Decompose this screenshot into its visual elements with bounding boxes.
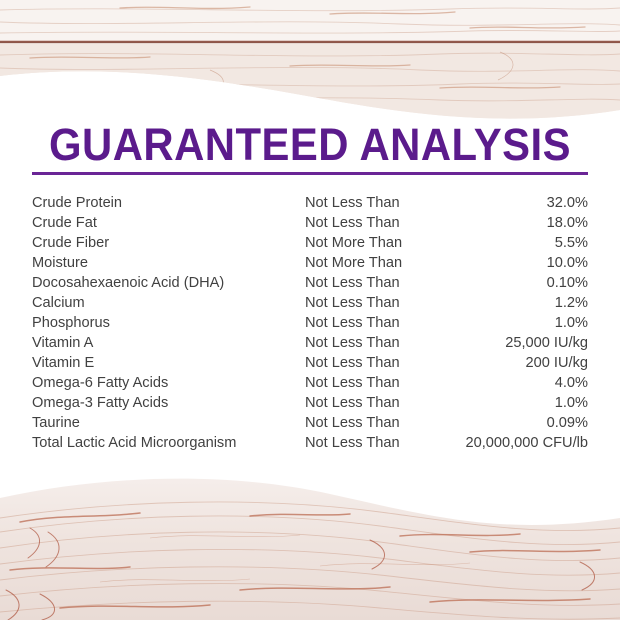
nutrient-qualifier: Not Less Than (305, 273, 435, 293)
nutrient-value: 0.10% (435, 273, 588, 293)
nutrient-qualifier: Not Less Than (305, 353, 435, 373)
nutrient-qualifier: Not More Than (305, 253, 435, 273)
nutrient-qualifier: Not More Than (305, 233, 435, 253)
nutrient-value: 4.0% (435, 373, 588, 393)
table-row: Moisture Not More Than 10.0% (32, 253, 588, 273)
table-row: Omega-6 Fatty Acids Not Less Than 4.0% (32, 373, 588, 393)
table-row: Calcium Not Less Than 1.2% (32, 293, 588, 313)
nutrient-value: 10.0% (435, 253, 588, 273)
table-row: Total Lactic Acid Microorganism Not Less… (32, 433, 588, 453)
nutrient-name: Total Lactic Acid Microorganism (32, 433, 305, 453)
table-row: Omega-3 Fatty Acids Not Less Than 1.0% (32, 393, 588, 413)
nutrient-name: Calcium (32, 293, 305, 313)
wood-texture-top-decoration (0, 0, 620, 125)
page-title: GUARANTEED ANALYSIS (22, 122, 599, 168)
wood-texture-bottom-decoration (0, 470, 620, 620)
nutrient-qualifier: Not Less Than (305, 293, 435, 313)
nutrient-qualifier: Not Less Than (305, 433, 435, 453)
nutrient-qualifier: Not Less Than (305, 313, 435, 333)
nutrient-value: 18.0% (435, 213, 588, 233)
title-underline-rule (32, 172, 588, 175)
table-row: Vitamin E Not Less Than 200 IU/kg (32, 353, 588, 373)
nutrient-value: 1.0% (435, 313, 588, 333)
nutrient-qualifier: Not Less Than (305, 213, 435, 233)
table-row: Taurine Not Less Than 0.09% (32, 413, 588, 433)
guaranteed-analysis-panel: GUARANTEED ANALYSIS Crude Protein Not Le… (0, 0, 620, 620)
nutrient-value: 20,000,000 CFU/lb (435, 433, 588, 453)
nutrient-value: 25,000 IU/kg (435, 333, 588, 353)
nutrient-name: Crude Fiber (32, 233, 305, 253)
nutrient-name: Crude Protein (32, 193, 305, 213)
nutrient-qualifier: Not Less Than (305, 413, 435, 433)
table-row: Vitamin A Not Less Than 25,000 IU/kg (32, 333, 588, 353)
nutrient-value: 0.09% (435, 413, 588, 433)
nutrient-qualifier: Not Less Than (305, 193, 435, 213)
table-row: Crude Fiber Not More Than 5.5% (32, 233, 588, 253)
nutrient-qualifier: Not Less Than (305, 333, 435, 353)
nutrient-name: Vitamin A (32, 333, 305, 353)
nutrient-value: 32.0% (435, 193, 588, 213)
nutrient-name: Phosphorus (32, 313, 305, 333)
nutrient-qualifier: Not Less Than (305, 373, 435, 393)
nutrient-name: Vitamin E (32, 353, 305, 373)
nutrient-value: 5.5% (435, 233, 588, 253)
nutrient-name: Moisture (32, 253, 305, 273)
table-row: Crude Fat Not Less Than 18.0% (32, 213, 588, 233)
nutrient-name: Crude Fat (32, 213, 305, 233)
table-row: Phosphorus Not Less Than 1.0% (32, 313, 588, 333)
nutrient-qualifier: Not Less Than (305, 393, 435, 413)
title-block: GUARANTEED ANALYSIS (0, 122, 620, 168)
nutrient-name: Taurine (32, 413, 305, 433)
nutrient-name: Omega-6 Fatty Acids (32, 373, 305, 393)
table-body: Crude Protein Not Less Than 32.0% Crude … (32, 193, 588, 453)
table-row: Crude Protein Not Less Than 32.0% (32, 193, 588, 213)
nutrient-value: 200 IU/kg (435, 353, 588, 373)
nutrient-name: Docosahexaenoic Acid (DHA) (32, 273, 305, 293)
table-row: Docosahexaenoic Acid (DHA) Not Less Than… (32, 273, 588, 293)
nutrient-value: 1.0% (435, 393, 588, 413)
nutrient-name: Omega-3 Fatty Acids (32, 393, 305, 413)
nutrient-value: 1.2% (435, 293, 588, 313)
guaranteed-analysis-table: Crude Protein Not Less Than 32.0% Crude … (32, 193, 588, 453)
